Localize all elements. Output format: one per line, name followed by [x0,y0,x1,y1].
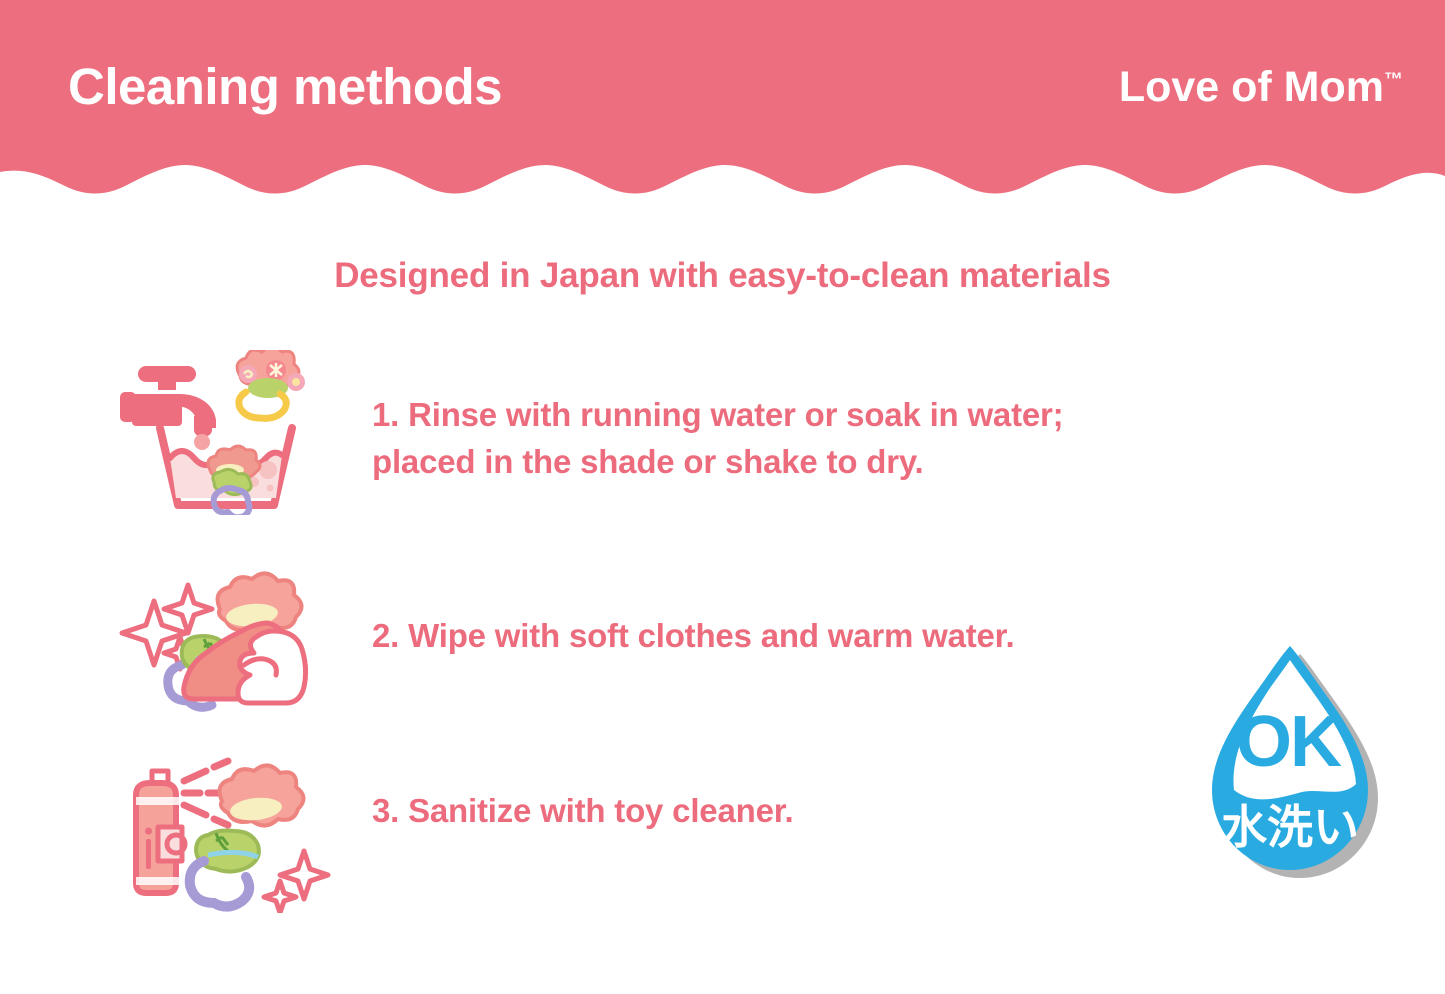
step-text-2: 2. Wipe with soft clothes and warm water… [372,565,1014,660]
spray-bottle-sanitize-icon-svg [118,753,333,913]
badge-japanese-text: 水洗い [1221,800,1359,854]
header-banner: Cleaning methods Love of Mom™ [0,0,1445,200]
step-text-1-line-1: 1. Rinse with running water or soak in w… [372,392,1063,439]
spray-bottle-sanitize-icon [110,753,340,913]
trademark-symbol: ™ [1384,70,1403,91]
svg-text:水洗い: 水洗い [1221,800,1359,854]
brand-logo: Love of Mom™ [1119,66,1403,109]
water-wash-ok-badge-svg: OK 水洗い [1192,638,1388,898]
step-text-3: 3. Sanitize with toy cleaner. [372,753,794,835]
page-title: Cleaning methods [68,61,502,112]
cloth-wipe-sparkle-icon [110,565,340,730]
badge-ok-text: OK [1236,702,1342,782]
step-item-1: 1. Rinse with running water or soak in w… [0,350,1445,515]
step-text-1: 1. Rinse with running water or soak in w… [372,350,1063,486]
subtitle-text: Designed in Japan with easy-to-clean mat… [0,256,1445,296]
water-wash-ok-badge: OK 水洗い OK 水洗い [1192,638,1388,898]
brand-name: Love of Mom [1119,63,1384,111]
step-text-1-line-2: placed in the shade or shake to dry. [372,439,1063,486]
faucet-basin-wash-icon [110,350,340,515]
step-text-3-line-1: 3. Sanitize with toy cleaner. [372,788,794,835]
faucet-basin-wash-icon-svg [118,350,333,515]
svg-text:OK: OK [1236,702,1342,782]
cleaning-methods-page: Cleaning methods Love of Mom™ Designed i… [0,0,1445,994]
cloth-wipe-sparkle-icon-svg [118,565,333,730]
step-text-2-line-1: 2. Wipe with soft clothes and warm water… [372,613,1014,660]
